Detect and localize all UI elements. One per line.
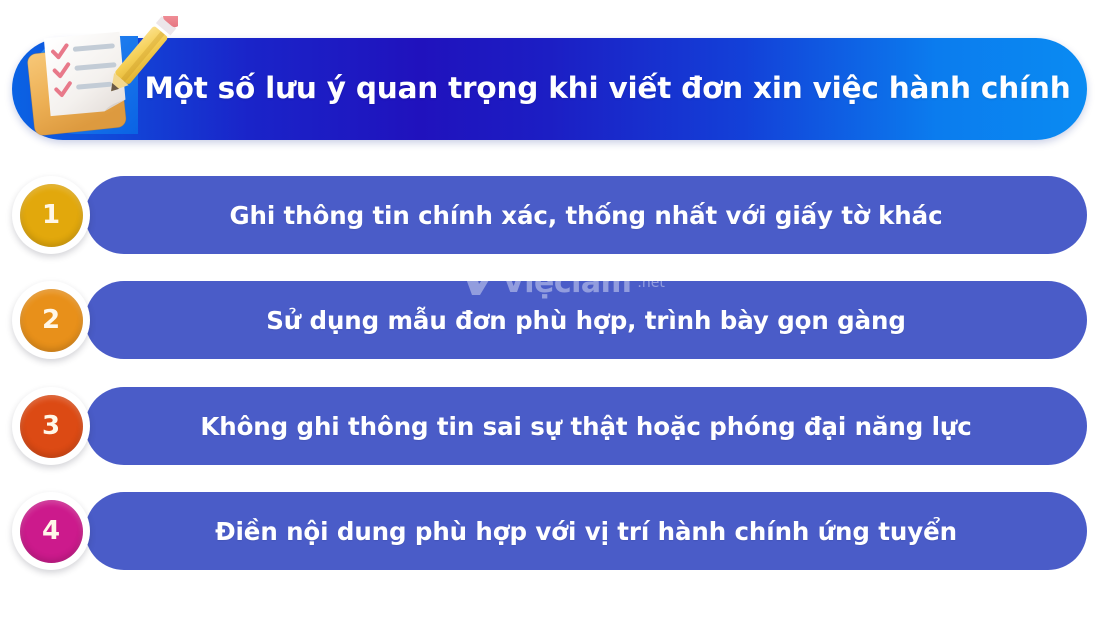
step-number: 3 [20,395,83,458]
list-item[interactable]: Ghi thông tin chính xác, thống nhất với … [0,176,1100,254]
step-number: 1 [20,184,83,247]
list-item[interactable]: Điền nội dung phù hợp với vị trí hành ch… [0,492,1100,570]
page-title: Một số lưu ý quan trọng khi viết đơn xin… [140,38,1075,140]
list-item-label: Điền nội dung phù hợp với vị trí hành ch… [85,492,1087,570]
list-item-label: Ghi thông tin chính xác, thống nhất với … [85,176,1087,254]
list-item-label: Không ghi thông tin sai sự thật hoặc phó… [85,387,1087,465]
step-badge: 3 [12,387,90,465]
step-number: 2 [20,289,83,352]
list-item[interactable]: Sử dụng mẫu đơn phù hợp, trình bày gọn g… [0,281,1100,359]
step-badge: 1 [12,176,90,254]
step-number: 4 [20,500,83,563]
list-item-label: Sử dụng mẫu đơn phù hợp, trình bày gọn g… [85,281,1087,359]
list-item[interactable]: Không ghi thông tin sai sự thật hoặc phó… [0,387,1100,465]
step-badge: 4 [12,492,90,570]
infographic-canvas: Một số lưu ý quan trọng khi viết đơn xin… [0,0,1100,619]
clipboard-checklist-pencil-icon [18,16,178,156]
step-badge: 2 [12,281,90,359]
header: Một số lưu ý quan trọng khi viết đơn xin… [12,38,1087,140]
